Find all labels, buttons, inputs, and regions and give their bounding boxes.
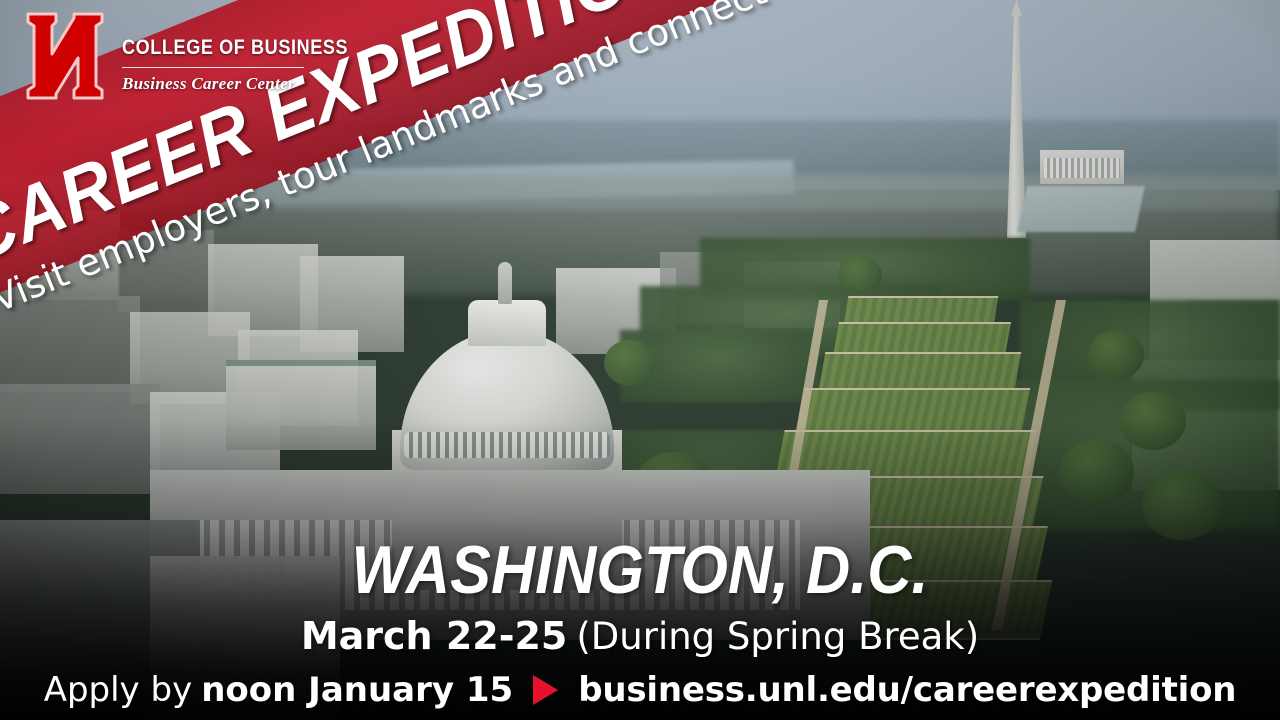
lincoln-memorial-columns (1044, 158, 1120, 178)
capitol-tholos (468, 300, 546, 346)
career-expedition-poster: CAREER EXPEDITION Visit employers, tour … (0, 0, 1280, 720)
apply-row: Apply by noon January 15 business.unl.ed… (0, 670, 1280, 710)
bottom-text-block: WASHINGTON, D.C. March 22-25(During Spri… (0, 536, 1280, 720)
unl-college-of-business-logo: COLLEGE OF BUSINESS Business Career Cent… (22, 8, 385, 104)
mall-lawn-panel (796, 388, 1031, 432)
tree (1142, 470, 1222, 540)
event-dates-note: (During Spring Break) (576, 615, 979, 658)
mall-lawn-panel (833, 322, 1011, 356)
destination-title: WASHINGTON, D.C. (64, 536, 1216, 604)
statue-of-freedom (498, 262, 512, 304)
application-url[interactable]: business.unl.edu/careerexpedition (578, 670, 1236, 710)
nebraska-n-icon (22, 8, 108, 104)
event-dates-line: March 22-25(During Spring Break) (0, 614, 1280, 658)
logo-wordmark: COLLEGE OF BUSINESS Business Career Cent… (122, 18, 385, 94)
tree (1088, 330, 1144, 380)
reflecting-pool (1017, 186, 1145, 232)
mall-lawn-panel (819, 352, 1022, 390)
event-dates: March 22-25 (301, 614, 568, 658)
apply-deadline: noon January 15 (201, 670, 513, 710)
apply-prefix: Apply by (44, 670, 193, 710)
tree (838, 256, 882, 294)
play-triangle-icon (533, 675, 558, 705)
tree (604, 340, 656, 386)
building (226, 360, 376, 450)
tree (1060, 440, 1134, 504)
building (0, 384, 160, 494)
logo-divider (122, 67, 304, 68)
logo-unit-name: Business Career Center (122, 74, 385, 94)
logo-college-name: COLLEGE OF BUSINESS (122, 36, 348, 60)
tree (1120, 392, 1186, 450)
capitol-dome-colonnade (404, 432, 610, 458)
